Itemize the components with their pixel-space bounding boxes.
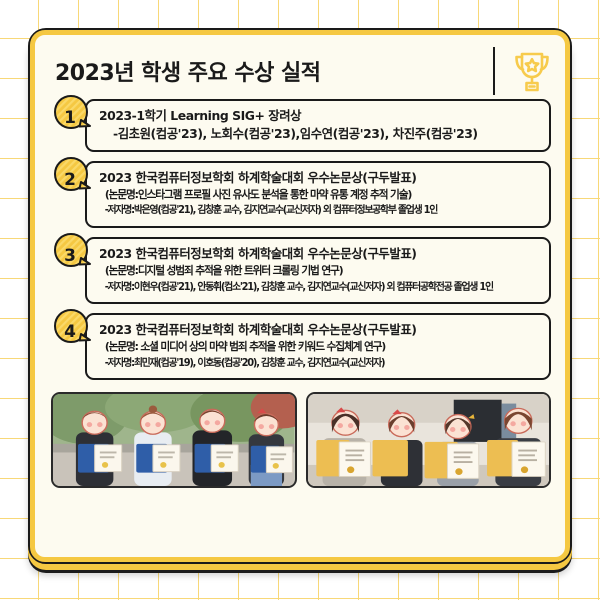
- entry-authors-3: -저자명:이현우(컴공'21), 안동휘(컴소'21), 김창훈 교수, 김지연…: [99, 280, 517, 296]
- card-header: 2023년 학생 주요 수상 실적: [45, 43, 555, 99]
- entry-authors-2: -저자명:박은영(컴공'21), 김창훈 교수, 김지연교수(교신저자) 외 컴…: [99, 203, 517, 219]
- entry-authors-1: -김초원(컴공'23), 노회수(컴공'23),임수연(컴공'23), 차진주(…: [99, 125, 539, 143]
- entry-paper-3: (논문명:디지털 성범죄 추적을 위한 트위터 크롤링 기법 연구): [99, 263, 526, 280]
- entry-box-1: 2023-1학기 Learning SIG+ 장려상 -김초원(컴공'23), …: [85, 99, 551, 152]
- page-title: 2023년 학생 주요 수상 실적: [55, 55, 489, 87]
- entry-paper-2: (논문명:인스타그램 프로필 사진 유사도 분석을 통한 마약 유통 계정 추적…: [99, 187, 526, 204]
- entry-title-3: 2023 한국컴퓨터정보학회 하계학술대회 우수논문상(구두발표): [99, 245, 539, 263]
- entry-number-3: 3: [51, 237, 89, 275]
- award-photo-indoor: [306, 392, 552, 488]
- entry-paper-4: (논문명: 소셜 미디어 상의 마약 범죄 추적을 위한 키워드 수집체계 연구…: [99, 339, 526, 356]
- award-list: 1 2023-1학기 Learning SIG+ 장려상 -김초원(컴공'23)…: [45, 99, 555, 389]
- entry-box-4: 2023 한국컴퓨터정보학회 하계학술대회 우수논문상(구두발표) (논문명: …: [85, 313, 551, 380]
- entry-box-2: 2023 한국컴퓨터정보학회 하계학술대회 우수논문상(구두발표) (논문명:인…: [85, 161, 551, 228]
- award-card: 2023년 학생 주요 수상 실적: [28, 28, 572, 564]
- photo-gallery: [45, 389, 555, 488]
- award-photo-outdoor: [51, 392, 297, 488]
- entry-title-1: 2023-1학기 Learning SIG+ 장려상: [99, 107, 539, 125]
- entry-number-1: 1: [51, 99, 89, 137]
- award-entry-1: 1 2023-1학기 Learning SIG+ 장려상 -김초원(컴공'23)…: [51, 99, 551, 152]
- entry-number-4: 4: [51, 313, 89, 351]
- entry-title-4: 2023 한국컴퓨터정보학회 하계학술대회 우수논문상(구두발표): [99, 321, 539, 339]
- entry-box-3: 2023 한국컴퓨터정보학회 하계학술대회 우수논문상(구두발표) (논문명:디…: [85, 237, 551, 304]
- entry-number-2: 2: [51, 161, 89, 199]
- award-entry-4: 4 2023 한국컴퓨터정보학회 하계학술대회 우수논문상(구두발표) (논문명…: [51, 313, 551, 380]
- entry-authors-4: -저자명:최민재(컴공'19), 이호동(컴공'20), 김창훈 교수, 김지연…: [99, 356, 517, 372]
- award-entry-2: 2 2023 한국컴퓨터정보학회 하계학술대회 우수논문상(구두발표) (논문명…: [51, 161, 551, 228]
- trophy-icon: [509, 47, 555, 95]
- award-entry-3: 3 2023 한국컴퓨터정보학회 하계학술대회 우수논문상(구두발표) (논문명…: [51, 237, 551, 304]
- entry-title-2: 2023 한국컴퓨터정보학회 하계학술대회 우수논문상(구두발표): [99, 169, 539, 187]
- header-divider: [493, 47, 495, 95]
